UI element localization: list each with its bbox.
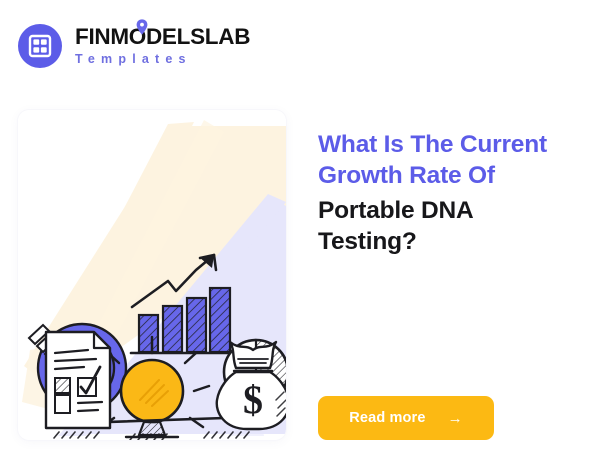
brand-title-wrap: FINMODELSLAB: [75, 25, 250, 49]
illustration-card: $: [18, 110, 286, 440]
brand-wordmark: FINMODELSLAB Templates: [75, 25, 250, 67]
headline-subject-line-1: Portable DNA: [318, 197, 474, 224]
brand-title: FINMODELSLAB: [75, 24, 250, 49]
headline-question-line-2: Growth Rate Of: [318, 162, 495, 189]
dollar-sign: $: [243, 377, 263, 422]
brand-logo[interactable]: FINMODELSLAB Templates: [18, 24, 250, 68]
headline-subject-line-2: Testing?: [318, 228, 417, 255]
headline-question-line-1: What Is The Current: [318, 131, 547, 158]
headline-question: What Is The Current Growth Rate Of: [318, 130, 586, 192]
promo-card: FINMODELSLAB Templates: [0, 0, 600, 464]
headline-subject: Portable DNA Testing?: [318, 196, 586, 258]
read-more-label: Read more: [349, 410, 425, 426]
map-pin-icon: [136, 19, 148, 35]
brand-mark: [18, 24, 62, 68]
growth-analytics-illustration: $: [18, 110, 286, 440]
page-title: What Is The Current Growth Rate Of Porta…: [318, 130, 586, 257]
read-more-button[interactable]: Read more →: [318, 396, 494, 440]
document-checklist: [46, 332, 110, 428]
arrow-right-icon: →: [448, 411, 463, 426]
grid-squares-icon: [18, 24, 62, 68]
brand-subtitle: Templates: [75, 52, 250, 68]
